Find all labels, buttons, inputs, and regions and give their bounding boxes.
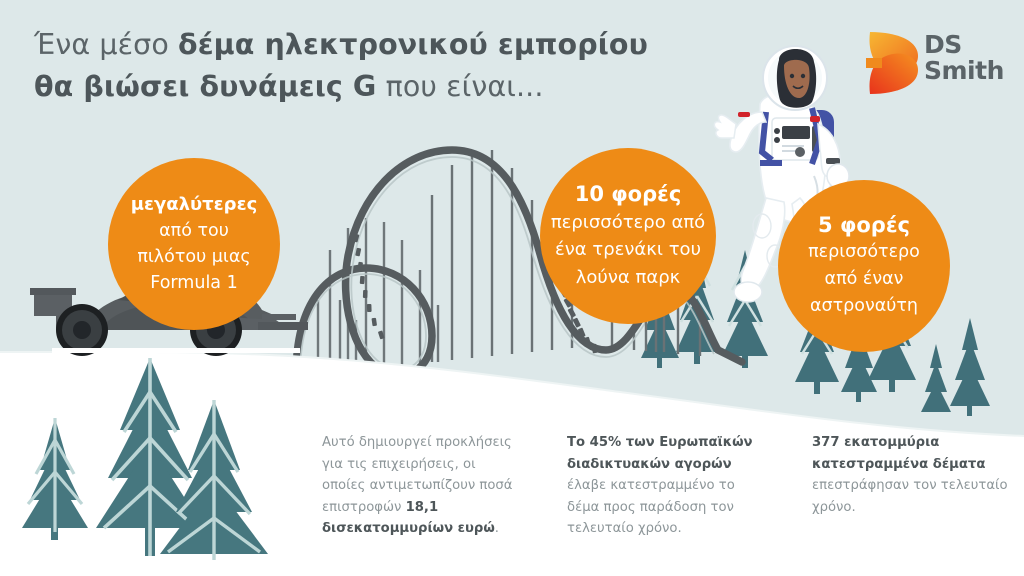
- stat-returns-cost: Αυτό δημιουργεί προκλήσεις για τις επιχε…: [322, 432, 522, 540]
- stat-damaged-share-body: έλαβε κατεστραμμένο το δέμα προς παράδοσ…: [567, 478, 735, 536]
- headline-line-2-bold: θα βιώσει δυνάμεις G: [34, 70, 376, 103]
- bubble-line-formula-1-2: πιλότου μιας: [137, 244, 250, 270]
- stat-returns-cost-tail: .: [495, 521, 499, 536]
- bubble-line-formula-1-1: από του: [159, 218, 229, 244]
- stat-bubble-rollercoaster: 10 φορές περισσότερο από ένα τρενάκι του…: [540, 148, 716, 324]
- bubble-line-rollercoaster-3: λούνα παρκ: [576, 264, 680, 292]
- headline-line-1: Ένα μέσο δέμα ηλεκτρονικού εμπορίου: [34, 24, 734, 66]
- bubble-headline-formula-1: μεγαλύτερες: [131, 192, 258, 218]
- headline: Ένα μέσο δέμα ηλεκτρονικού εμπορίου θα β…: [34, 24, 734, 108]
- stat-bubble-astronaut: 5 φορές περισσότερο από έναν αστροναύτη: [778, 180, 950, 352]
- headline-line-2: θα βιώσει δυνάμεις G που είναι...: [34, 66, 734, 108]
- stat-bubble-formula-1: μεγαλύτερες από του πιλότου μιας Formula…: [108, 158, 280, 330]
- bubble-line-astronaut-3: αστροναύτη: [810, 293, 918, 320]
- stat-damaged-share-lead: Το 45% των Ευρωπαϊκών διαδικτυακών αγορώ…: [567, 435, 753, 472]
- ds-smith-leaf-mark: [862, 28, 924, 98]
- bubble-line-formula-1-3: Formula 1: [150, 270, 237, 296]
- logo-line-2: Smith: [924, 58, 1004, 84]
- headline-line-1-plain: Ένα μέσο: [34, 28, 178, 61]
- bubble-line-astronaut-1: περισσότερο: [808, 239, 920, 266]
- bubble-line-rollercoaster-2: ένα τρενάκι του: [555, 236, 701, 264]
- headline-line-1-bold: δέμα ηλεκτρονικού εμπορίου: [178, 28, 648, 61]
- logo-line-1: DS: [924, 32, 1004, 58]
- stat-damaged-share: Το 45% των Ευρωπαϊκών διαδικτυακών αγορώ…: [567, 432, 767, 540]
- stat-returned-parcels-lead: 377 εκατομμύρια κατεστραμμένα δέματα: [812, 435, 985, 472]
- stat-returned-parcels-body: επεστράφησαν τον τελευταίο χρόνο.: [812, 478, 1008, 515]
- stat-returned-parcels: 377 εκατομμύρια κατεστραμμένα δέματα επε…: [812, 432, 1012, 540]
- bubble-headline-rollercoaster: 10 φορές: [575, 181, 682, 209]
- ds-smith-wordmark: DS Smith: [924, 32, 1004, 84]
- bubble-line-astronaut-2: από έναν: [825, 266, 904, 293]
- infographic-canvas: Ένα μέσο δέμα ηλεκτρονικού εμπορίου θα β…: [0, 0, 1024, 576]
- bubble-line-rollercoaster-1: περισσότερο από: [551, 209, 705, 237]
- bubble-headline-astronaut: 5 φορές: [818, 212, 910, 239]
- headline-line-2-plain: που είναι...: [376, 70, 543, 103]
- stats-row: Αυτό δημιουργεί προκλήσεις για τις επιχε…: [322, 432, 1012, 540]
- ds-smith-logo[interactable]: DS Smith: [862, 28, 1002, 106]
